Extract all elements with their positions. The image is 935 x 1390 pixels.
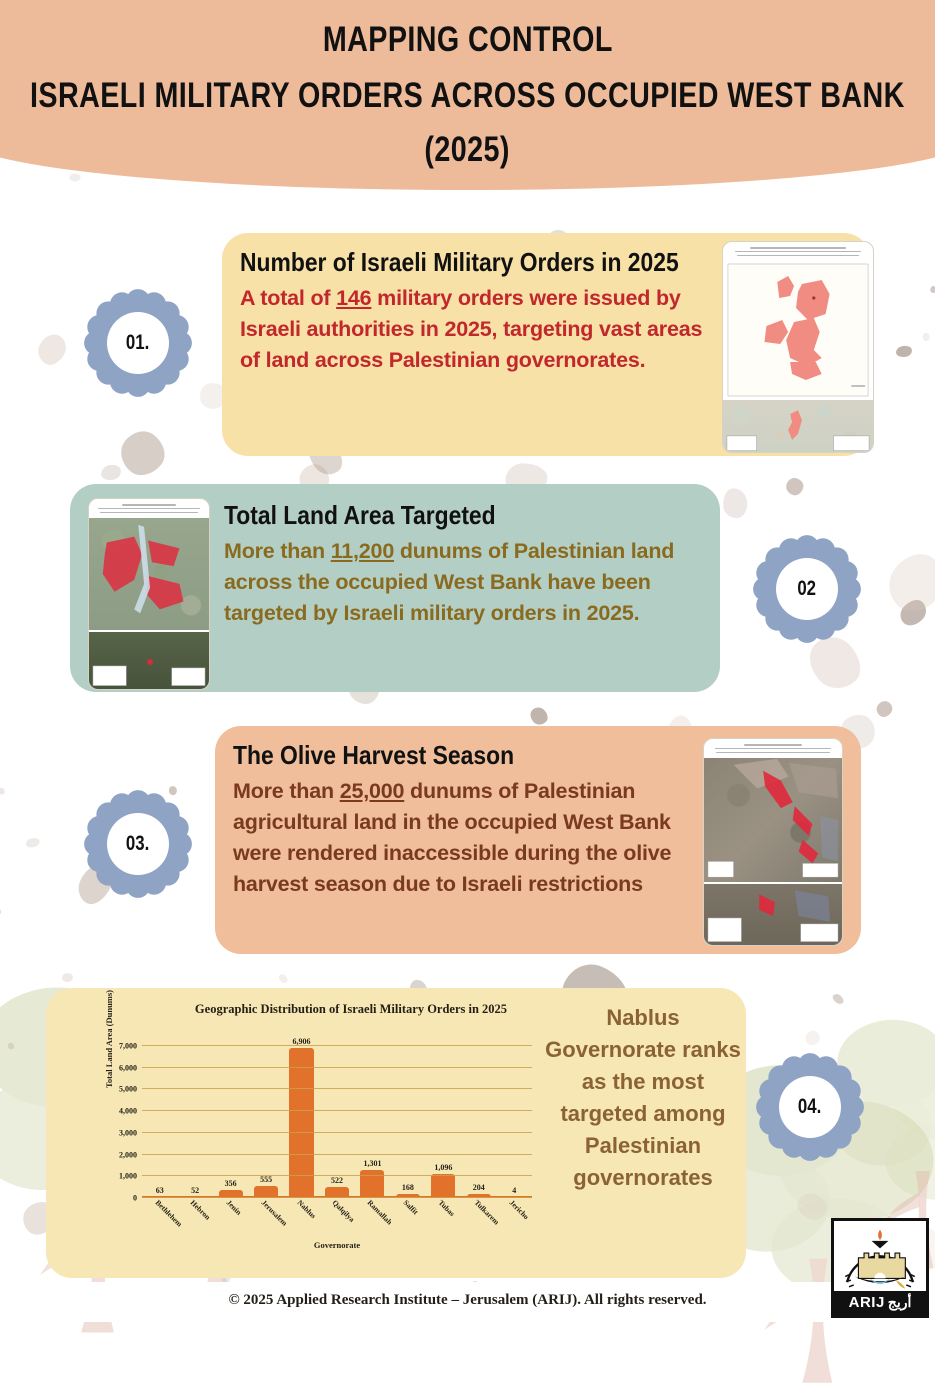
map-legend-lines <box>729 245 867 259</box>
chart-x-tick-label: Nablus <box>295 1198 317 1220</box>
chart-x-tick-label: Jerusalem <box>260 1198 290 1228</box>
map-legend-lines <box>95 502 203 516</box>
chart-x-tick-label: Tubas <box>437 1198 457 1218</box>
card-3-highlight: 25,000 <box>340 779 405 803</box>
chart-x-tick-label: Jericho <box>508 1198 531 1221</box>
chart-gridline <box>142 1067 532 1068</box>
step-badge-04-number: 04. <box>798 1095 821 1119</box>
chart-bar-value-label: 63 <box>156 1186 164 1195</box>
paint-splatter <box>0 786 6 795</box>
chart-x-axis-label: Governorate <box>142 1240 532 1250</box>
card-2-body-before: More than <box>224 539 331 563</box>
chart-bar <box>360 1170 384 1198</box>
chart-annotation-text: Nablus Governorate ranks as the most tar… <box>538 1002 748 1194</box>
olive-harvest-map-thumbnail <box>703 738 843 946</box>
card-2-title: Total Land Area Targeted <box>224 500 645 530</box>
chart-gridline <box>142 1088 532 1089</box>
restricted-zone-overlay <box>704 884 842 946</box>
aerial-photo-upper <box>704 758 842 882</box>
chart-bar-value-label: 522 <box>331 1176 343 1185</box>
card-3-body-before: More than <box>233 779 340 803</box>
paint-splatter <box>69 174 80 182</box>
step-badge-02-number: 02 <box>798 577 817 601</box>
header-banner: MAPPING CONTROL ISRAELI MILITARY ORDERS … <box>0 0 935 190</box>
paint-splatter <box>527 703 551 727</box>
chart-gridline <box>142 1045 532 1046</box>
chart-gridline <box>142 1197 532 1198</box>
chart-y-tick-label: 0 <box>133 1194 137 1203</box>
chart-bar-value-label: 52 <box>191 1186 199 1195</box>
restricted-zone-polygons <box>704 758 842 882</box>
paint-splatter <box>895 345 912 358</box>
chart-bar-value-label: 555 <box>260 1175 272 1184</box>
footer-copyright: © 2025 Applied Research Institute – Jeru… <box>0 1292 935 1309</box>
arij-latin-text: ARIJ <box>849 1294 885 1311</box>
chart-bar-value-label: 356 <box>225 1179 237 1188</box>
card-2-body: More than 11,200 dunums of Palestinian l… <box>224 536 702 629</box>
chart-gridline <box>142 1110 532 1111</box>
card-3-title: The Olive Harvest Season <box>233 740 636 770</box>
paint-splatter <box>802 1027 823 1048</box>
paint-splatter <box>877 544 935 622</box>
header-title-line-3: (2025) <box>425 128 510 172</box>
step-badge-01-number: 01. <box>126 331 149 355</box>
paint-splatter <box>874 698 895 719</box>
arij-crest-icon <box>834 1221 926 1291</box>
chart-y-tick-label: 2,000 <box>119 1150 137 1159</box>
card-1-highlight: 146 <box>336 286 371 310</box>
chart-plot-area: 63Bethlehem52Hebron356Jenin555Jerusalem6… <box>142 1046 532 1198</box>
paint-splatter <box>923 333 931 342</box>
site-marker <box>89 632 209 689</box>
card-1-title: Number of Israeli Military Orders in 202… <box>240 247 655 277</box>
card-military-orders: Number of Israeli Military Orders in 202… <box>222 233 870 456</box>
paint-splatter <box>930 285 935 293</box>
chart-y-tick-label: 7,000 <box>119 1042 137 1051</box>
chart-y-tick-label: 3,000 <box>119 1128 137 1137</box>
paint-splatter <box>895 595 930 630</box>
chart-gridline <box>142 1132 532 1133</box>
paint-splatter <box>7 1041 15 1050</box>
step-badge-02: 02 <box>752 534 862 644</box>
chart-y-tick-label: 1,000 <box>119 1172 137 1181</box>
chart-bar <box>431 1174 455 1198</box>
paint-splatter <box>722 487 748 519</box>
satellite-image-strip <box>723 400 873 453</box>
chart-gridline <box>142 1175 532 1176</box>
chart-bar-value-label: 4 <box>512 1186 516 1195</box>
paint-splatter <box>831 992 845 1006</box>
chart-x-tick-label: Qalqilya <box>331 1198 357 1224</box>
paint-splatter <box>277 973 289 985</box>
card-1-body: A total of 146 military orders were issu… <box>240 283 712 376</box>
chart-bar-value-label: 1,096 <box>434 1163 452 1172</box>
arij-logo: ARIJ أريج <box>831 1218 929 1318</box>
chart-x-tick-label: Bethlehem <box>153 1198 184 1229</box>
header-title-line-1: MAPPING CONTROL <box>323 18 613 62</box>
arij-arabic-text: أريج <box>888 1294 912 1311</box>
card-land-area: Total Land Area Targeted More than 11,20… <box>70 484 720 692</box>
card-2-highlight: 11,200 <box>331 539 394 563</box>
step-badge-03-number: 03. <box>126 832 149 856</box>
arij-wordmark: ARIJ أريج <box>834 1291 926 1315</box>
chart-x-tick-label: Ramallah <box>366 1198 394 1226</box>
military-orders-map-thumbnail <box>722 241 874 453</box>
map-polygon-graphic <box>723 262 873 398</box>
aerial-photo-upper <box>89 518 209 630</box>
header-title-line-2: ISRAELI MILITARY ORDERS ACROSS OCCUPIED … <box>30 72 905 120</box>
card-olive-harvest: The Olive Harvest Season More than 25,00… <box>215 726 861 954</box>
land-area-map-thumbnail <box>88 498 210 690</box>
chart-bar-value-label: 168 <box>402 1183 414 1192</box>
map-legend-lines <box>710 742 836 756</box>
paint-splatter <box>784 476 805 497</box>
card-1-body-before: A total of <box>240 286 336 310</box>
chart-y-axis-label: Total Land Area (Dunums) <box>104 990 114 1088</box>
paint-splatter <box>112 423 172 483</box>
aerial-photo-lower <box>89 632 209 689</box>
chart-x-tick-label: Salfit <box>402 1198 420 1216</box>
paint-splatter <box>33 330 70 369</box>
paint-splatter <box>99 463 122 482</box>
chart-bar-value-label: 204 <box>473 1183 485 1192</box>
chart-x-tick-label: Hebron <box>189 1198 213 1222</box>
chart-y-tick-label: 6,000 <box>119 1063 137 1072</box>
chart-x-tick-label: Tulkarem <box>472 1198 500 1226</box>
satellite-overlay <box>723 400 873 453</box>
card-3-body: More than 25,000 dunums of Palestinian a… <box>233 776 691 900</box>
chart-bar-value-label: 1,301 <box>363 1159 381 1168</box>
step-badge-03: 03. <box>83 789 193 899</box>
paint-splatter <box>0 905 3 918</box>
step-badge-04: 04. <box>755 1052 865 1162</box>
aerial-photo-lower <box>704 884 842 946</box>
paint-splatter <box>793 1189 831 1224</box>
paint-splatter <box>62 972 74 982</box>
chart-y-tick-label: 5,000 <box>119 1085 137 1094</box>
targeted-land-polygons <box>89 518 209 630</box>
chart-x-tick-label: Jenin <box>224 1198 243 1217</box>
step-badge-01: 01. <box>83 288 193 398</box>
chart-y-tick-label: 4,000 <box>119 1107 137 1116</box>
chart-gridline <box>142 1154 532 1155</box>
paint-splatter <box>25 837 40 849</box>
